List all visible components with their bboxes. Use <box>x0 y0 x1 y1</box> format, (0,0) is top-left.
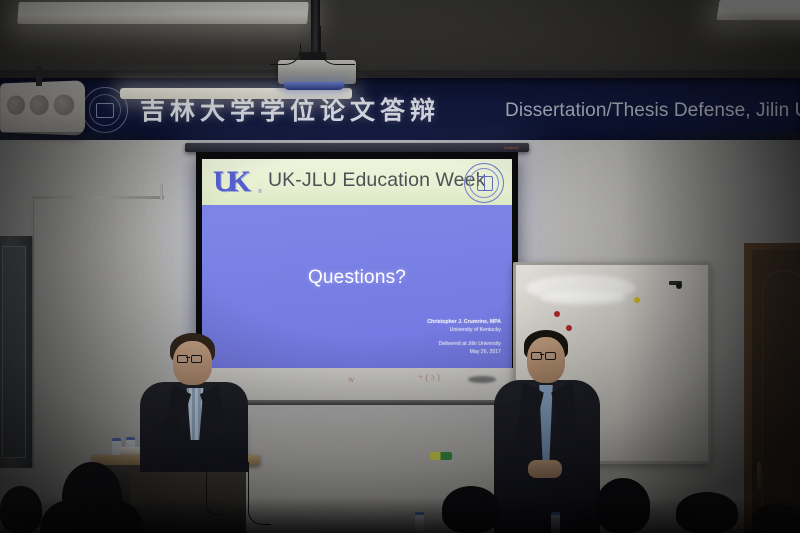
ceiling-light-right <box>716 0 800 20</box>
board-smudge <box>468 376 496 383</box>
slide-header: UK ® UK-JLU Education Week <box>202 159 512 205</box>
projection-screen: UK ® UK-JLU Education Week Questions? Ch… <box>196 152 518 380</box>
housing-brand-label: Hadisel <box>504 145 519 150</box>
footer-location: Delivered at Jilin University <box>427 341 501 349</box>
laptop-cable <box>206 466 223 515</box>
audience-member-3 <box>442 486 500 533</box>
footer-date: May 26, 2017 <box>427 349 501 357</box>
whiteboard-marker <box>430 452 452 460</box>
ceiling-light-left <box>17 2 309 24</box>
whiteboard-magnet-1 <box>554 311 560 317</box>
footer-affiliation: University of Kentucky <box>427 327 501 335</box>
screen-roller-housing: Hadisel <box>185 143 529 152</box>
footer-presenter: Christopher J. Crumrine, MPA <box>427 319 501 327</box>
power-cable <box>248 462 271 525</box>
slide-question-text: Questions? <box>202 267 512 289</box>
slide-title: UK-JLU Education Week <box>268 169 485 192</box>
water-bottle-4 <box>551 512 560 533</box>
banner-english-text: Dissertation/Thesis Defense, Jilin U <box>505 100 800 122</box>
defense-banner: 吉林大学学位论文答辩 Dissertation/Thesis Defense, … <box>0 78 800 140</box>
uk-registered-mark: ® <box>258 189 262 195</box>
presenter-2-hands <box>528 460 562 478</box>
uk-logo: UK <box>213 165 259 199</box>
wall-speaker <box>0 80 85 135</box>
board-scribble-left: w <box>348 374 355 384</box>
presenter-2-glasses-right <box>545 352 556 360</box>
projector-mount-pole <box>311 0 320 60</box>
presentation-slide: UK ® UK-JLU Education Week Questions? Ch… <box>202 159 512 373</box>
speaker-mount <box>36 66 42 86</box>
jlu-seal-icon <box>464 163 504 203</box>
board-scribble-right: + ( ɔ ) <box>418 372 440 382</box>
left-shadow <box>0 132 180 533</box>
projector-lens-icon <box>284 82 344 90</box>
presenter-2-head <box>527 337 565 383</box>
whiteboard-magnet-2 <box>566 325 572 331</box>
lecture-room-photo: 吉林大学学位论文答辩 Dissertation/Thesis Defense, … <box>0 0 800 533</box>
water-bottle-3 <box>415 512 424 533</box>
right-shadow <box>620 132 800 533</box>
presenter-1-glasses-right <box>191 355 202 363</box>
projector-cable <box>320 26 355 65</box>
slide-footer: Christopher J. Crumrine, MPA University … <box>427 319 501 356</box>
